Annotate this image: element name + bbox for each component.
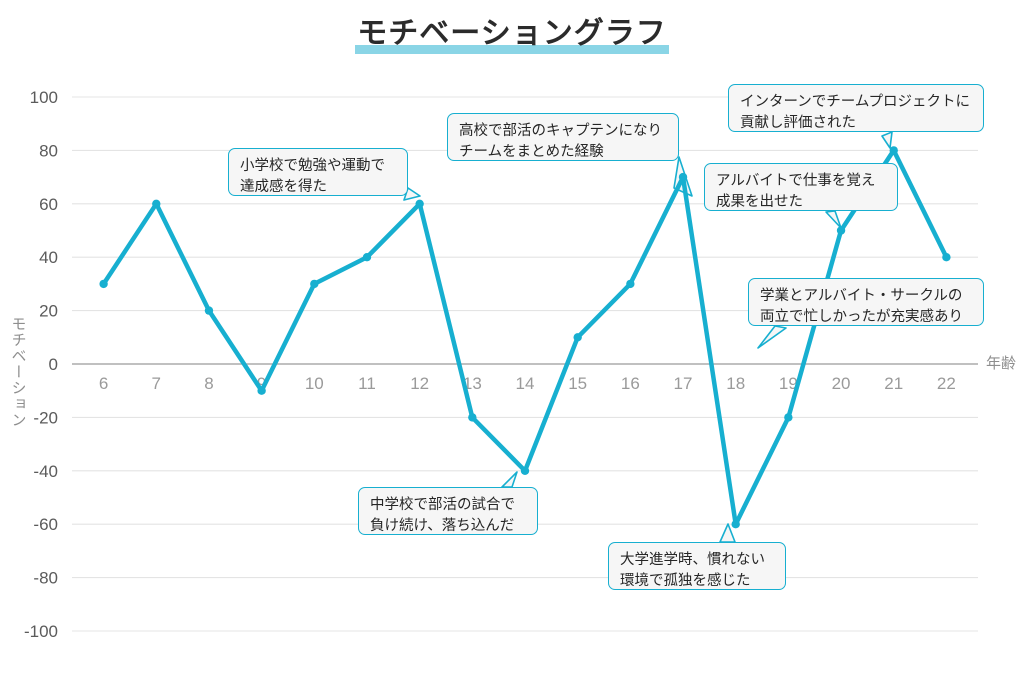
data-point (837, 226, 845, 234)
parttime-tail (826, 211, 841, 228)
callout-university: 大学進学時、慣れない 環境で孤独を感じた (608, 542, 786, 590)
data-point (890, 146, 898, 154)
data-point (205, 306, 213, 314)
x-tick-label: 10 (305, 374, 324, 393)
data-point (468, 413, 476, 421)
callout-middle: 中学校で部活の試合で 負け続け、落ち込んだ (358, 487, 538, 535)
x-tick-labels: 678910111213141516171819202122 (99, 374, 956, 393)
x-tick-label: 18 (726, 374, 745, 393)
data-point (679, 173, 687, 181)
y-tick-label: -100 (24, 622, 58, 641)
data-point (257, 387, 265, 395)
y-tick-label: 100 (30, 88, 58, 107)
callout-parttime: アルバイトで仕事を覚え 成果を出せた (704, 163, 898, 211)
middle-tail (502, 472, 517, 487)
x-axis-label: 年齢 (986, 355, 1016, 372)
y-tick-label: 0 (49, 355, 58, 374)
x-tick-label: 14 (516, 374, 535, 393)
balance-tail (758, 326, 786, 348)
y-tick-labels: 100806040200-20-40-60-80-100 (24, 88, 58, 641)
data-point (363, 253, 371, 261)
y-tick-label: 40 (39, 248, 58, 267)
y-axis-label: モチベーション (10, 316, 27, 428)
x-tick-label: 7 (152, 374, 161, 393)
data-point (573, 333, 581, 341)
data-point (626, 280, 634, 288)
callout-internship: インターンでチームプロジェクトに 貢献し評価された (728, 84, 984, 132)
data-point (415, 200, 423, 208)
page-title: モチベーショングラフ (0, 8, 1024, 54)
callout-highschool: 高校で部活のキャプテンになり チームをまとめた経験 (447, 113, 679, 161)
page-title-text: モチベーショングラフ (357, 17, 666, 50)
data-point (731, 520, 739, 528)
x-tick-label: 22 (937, 374, 956, 393)
x-tick-label: 12 (410, 374, 429, 393)
data-point (152, 200, 160, 208)
internship-tail (882, 132, 892, 148)
x-tick-label: 15 (568, 374, 587, 393)
y-tick-label: -40 (33, 462, 58, 481)
data-point (942, 253, 950, 261)
y-tick-label: 60 (39, 195, 58, 214)
x-tick-label: 6 (99, 374, 108, 393)
data-point (310, 280, 318, 288)
motivation-chart: モチベーショングラフ 100806040200-20-40-60-80-100 … (0, 0, 1024, 683)
x-tick-label: 16 (621, 374, 640, 393)
x-tick-label: 20 (832, 374, 851, 393)
callout-balance: 学業とアルバイト・サークルの 両立で忙しかったが充実感あり (748, 278, 984, 326)
callout-elementary: 小学校で勉強や運動で 達成感を得た (228, 148, 408, 196)
x-tick-label: 11 (358, 374, 376, 393)
data-point (521, 467, 529, 475)
y-tick-label: -60 (33, 515, 58, 534)
data-point (99, 280, 107, 288)
y-tick-label: -20 (33, 408, 58, 427)
y-tick-label: 80 (39, 141, 58, 160)
y-tick-label: 20 (39, 302, 58, 321)
x-tick-label: 17 (674, 374, 693, 393)
y-tick-label: -80 (33, 569, 58, 588)
data-point (784, 413, 792, 421)
x-tick-label: 21 (884, 374, 903, 393)
x-tick-label: 8 (204, 374, 213, 393)
